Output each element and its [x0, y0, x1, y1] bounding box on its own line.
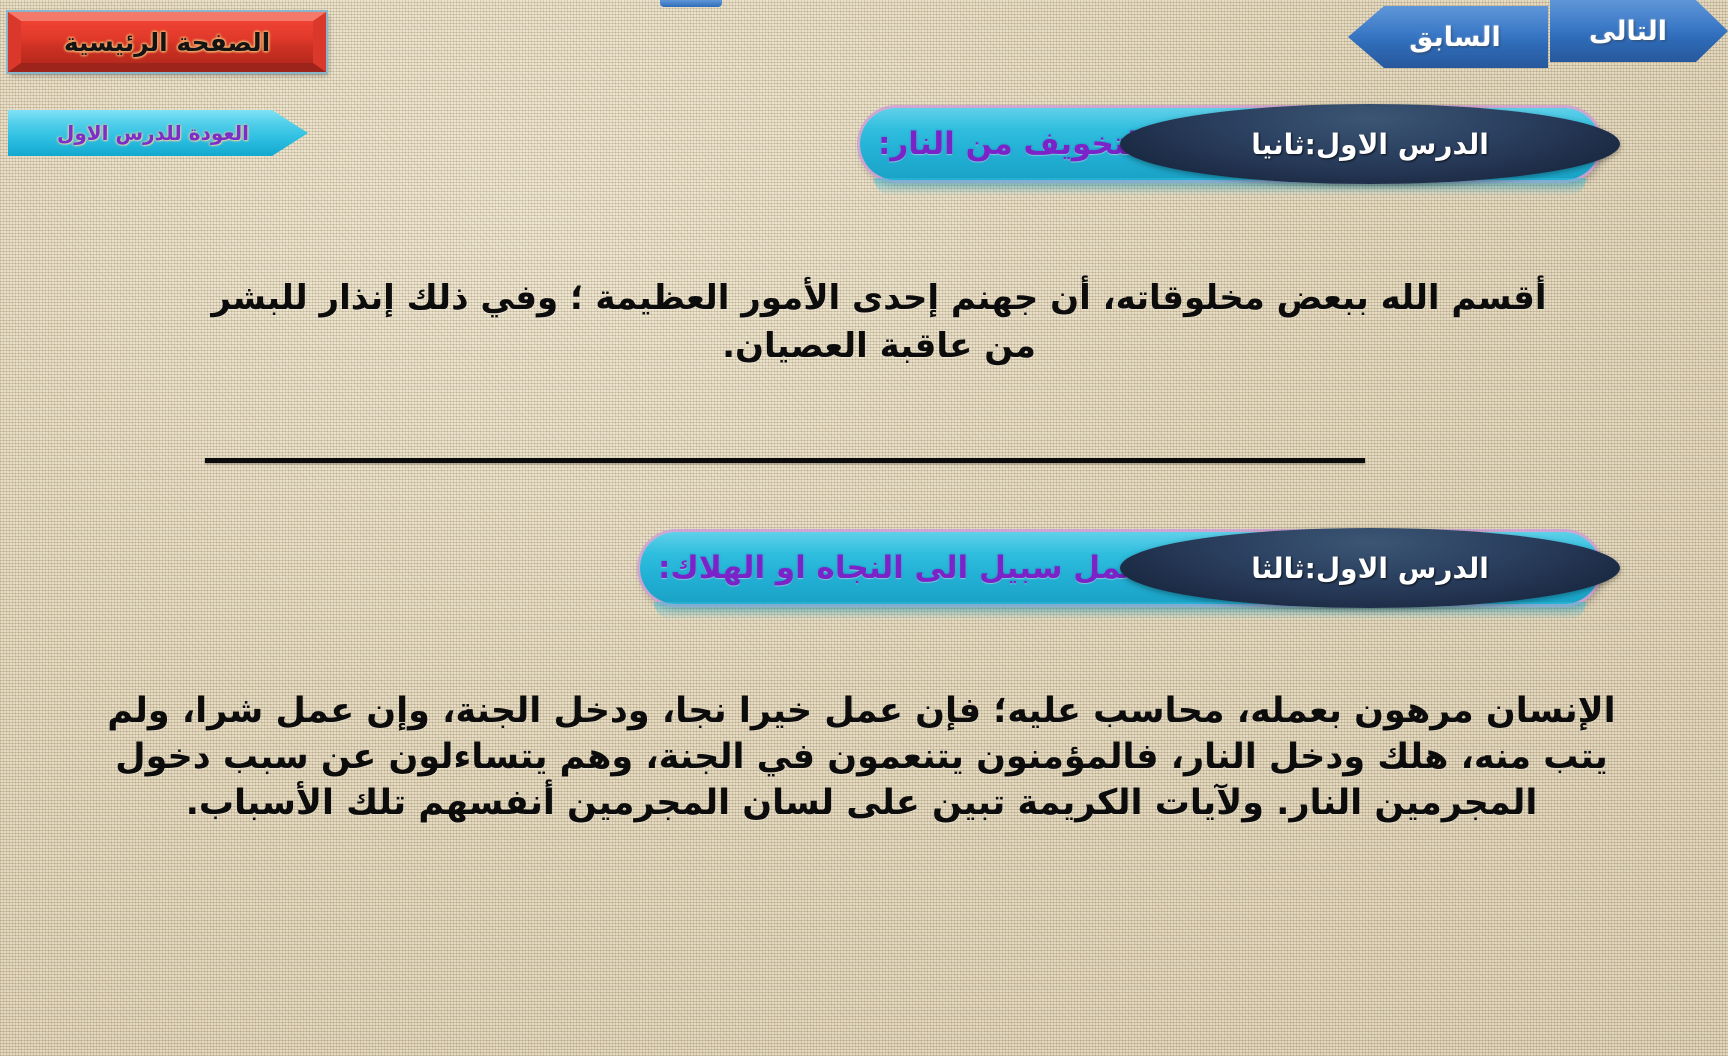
next-arrow-label: التالى — [1589, 16, 1689, 47]
previous-arrow-button[interactable]: السابق — [1348, 6, 1548, 68]
home-page-button-label: الصفحة الرئيسية — [64, 28, 270, 57]
slide-canvas: الصفحة الرئيسية العودة للدرس الاول الساب… — [0, 0, 1728, 1056]
back-to-lesson-one-button[interactable]: العودة للدرس الاول — [8, 110, 308, 156]
next-arrow-button[interactable]: التالى — [1550, 0, 1728, 62]
home-page-button[interactable]: الصفحة الرئيسية — [8, 12, 326, 72]
previous-arrow-label: السابق — [1395, 22, 1500, 53]
section-one-body-text: أقسم الله ببعض مخلوقاته، أن جهنم إحدى ال… — [180, 274, 1578, 371]
section-two-lesson-label: الدرس الاول:ثالثا — [1251, 552, 1489, 585]
section-one-lesson-pill: الدرس الاول:ثانيا — [1120, 104, 1620, 184]
section-one-lesson-label: الدرس الاول:ثانيا — [1251, 128, 1489, 161]
section-divider — [205, 458, 1365, 463]
section-two-lesson-pill: الدرس الاول:ثالثا — [1120, 528, 1620, 608]
section-two-title: العمل سبيل الى النجاه او الهلاك: — [640, 550, 1179, 586]
top-connector-stub — [660, 0, 722, 7]
back-to-lesson-one-button-label: العودة للدرس الاول — [57, 121, 259, 145]
section-two-body-text: الإنسان مرهون بعمله، محاسب عليه؛ فإن عمل… — [100, 688, 1623, 827]
